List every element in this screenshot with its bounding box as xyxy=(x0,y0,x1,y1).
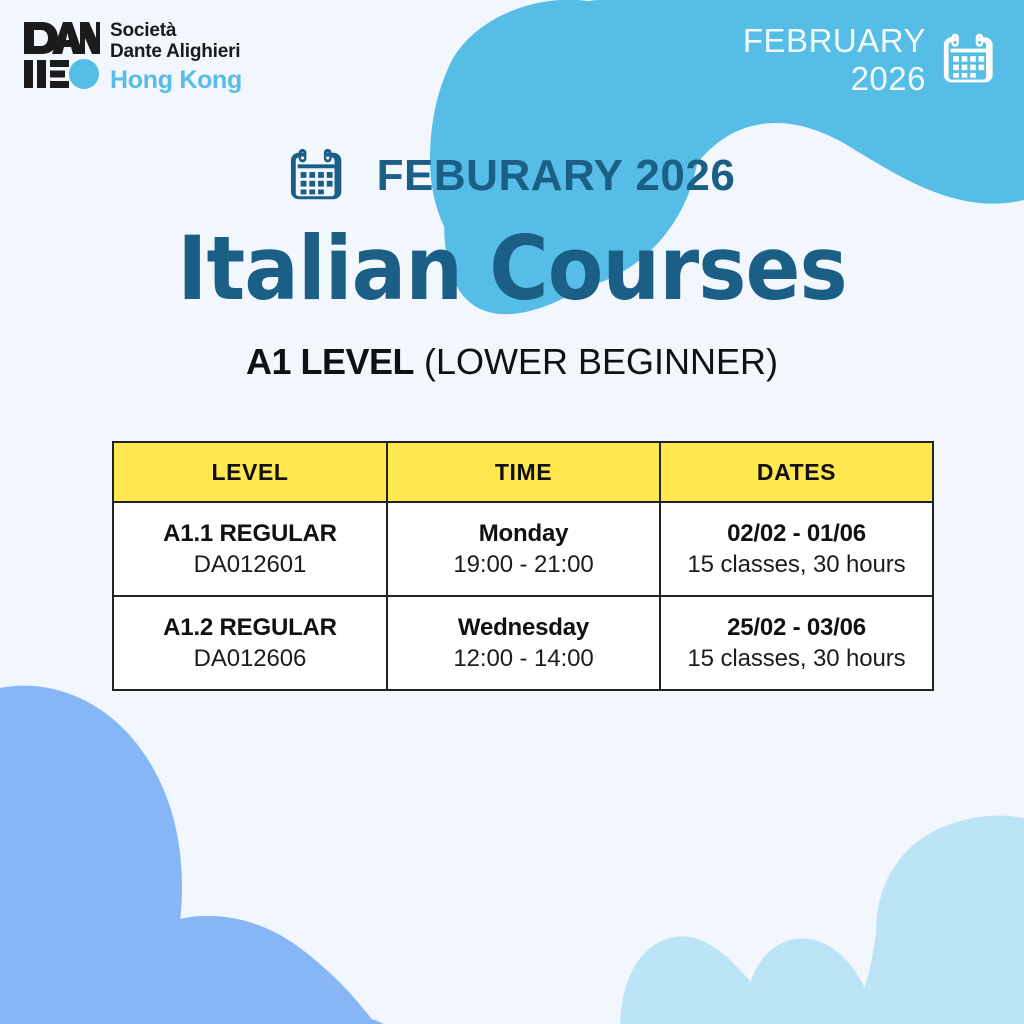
calendar-icon xyxy=(289,143,351,210)
course-date-range: 25/02 - 03/06 xyxy=(667,612,926,643)
course-table-container: LEVEL TIME DATES A1.1 REGULAR DA012601 M… xyxy=(112,441,932,691)
course-level-name: A1.2 REGULAR xyxy=(120,612,380,643)
level-subtitle: A1 LEVEL (LOWER BEGINNER) xyxy=(0,341,1024,383)
cell-level: A1.2 REGULAR DA012606 xyxy=(113,596,387,690)
page-title: Italian Courses xyxy=(41,221,983,317)
course-level-name: A1.1 REGULAR xyxy=(120,518,380,549)
course-day: Wednesday xyxy=(394,612,653,643)
brand-line-2: Dante Alighieri xyxy=(110,41,242,62)
month-heading-row: FEBURARY 2026 xyxy=(0,135,1024,217)
course-table: LEVEL TIME DATES A1.1 REGULAR DA012601 M… xyxy=(112,441,934,691)
cell-dates: 25/02 - 03/06 15 classes, 30 hours xyxy=(660,596,933,690)
table-row: A1.1 REGULAR DA012601 Monday 19:00 - 21:… xyxy=(113,502,933,596)
cell-time: Wednesday 12:00 - 14:00 xyxy=(387,596,660,690)
poster-canvas: Società Dante Alighieri Hong Kong FEBRUA… xyxy=(0,0,1024,1024)
cell-time: Monday 19:00 - 21:00 xyxy=(387,502,660,596)
brand-logo: Società Dante Alighieri Hong Kong xyxy=(22,18,242,95)
course-hours: 19:00 - 21:00 xyxy=(394,549,653,581)
cell-level: A1.1 REGULAR DA012601 xyxy=(113,502,387,596)
level-code-label: A1 LEVEL xyxy=(246,341,414,382)
course-duration: 15 classes, 30 hours xyxy=(667,549,926,581)
bottom-left-blob xyxy=(0,686,384,1024)
course-code: DA012601 xyxy=(120,549,380,581)
course-code: DA012606 xyxy=(120,643,380,675)
bottom-right-blob xyxy=(820,817,1024,1024)
table-row: A1.2 REGULAR DA012606 Wednesday 12:00 - … xyxy=(113,596,933,690)
bottom-right-blob-tail xyxy=(747,938,882,1024)
month-heading-text: FEBURARY 2026 xyxy=(377,151,736,201)
column-header-level: LEVEL xyxy=(113,442,387,502)
brand-city: Hong Kong xyxy=(110,65,242,95)
brand-line-1: Società xyxy=(110,20,242,41)
month-badge-text: FEBRUARY 2026 xyxy=(743,22,926,98)
course-hours: 12:00 - 14:00 xyxy=(394,643,653,675)
heading-block: FEBURARY 2026 Italian Courses A1 LEVEL (… xyxy=(0,135,1024,383)
month-badge-year: 2026 xyxy=(743,60,926,98)
column-header-dates: DATES xyxy=(660,442,933,502)
calendar-icon xyxy=(942,28,1002,93)
dante-monogram-logo-icon xyxy=(22,18,100,90)
bottom-left-blob-lobe xyxy=(120,916,376,1024)
column-header-time: TIME xyxy=(387,442,660,502)
bottom-right-blob-lobe xyxy=(620,816,1024,1024)
month-badge-month: FEBRUARY xyxy=(743,22,926,60)
month-badge: FEBRUARY 2026 xyxy=(743,22,1002,98)
cell-dates: 02/02 - 01/06 15 classes, 30 hours xyxy=(660,502,933,596)
level-description-label: (LOWER BEGINNER) xyxy=(424,341,778,382)
course-day: Monday xyxy=(394,518,653,549)
course-duration: 15 classes, 30 hours xyxy=(667,643,926,675)
course-date-range: 02/02 - 01/06 xyxy=(667,518,926,549)
brand-wordmark: Società Dante Alighieri Hong Kong xyxy=(110,18,242,95)
table-header-row: LEVEL TIME DATES xyxy=(113,442,933,502)
